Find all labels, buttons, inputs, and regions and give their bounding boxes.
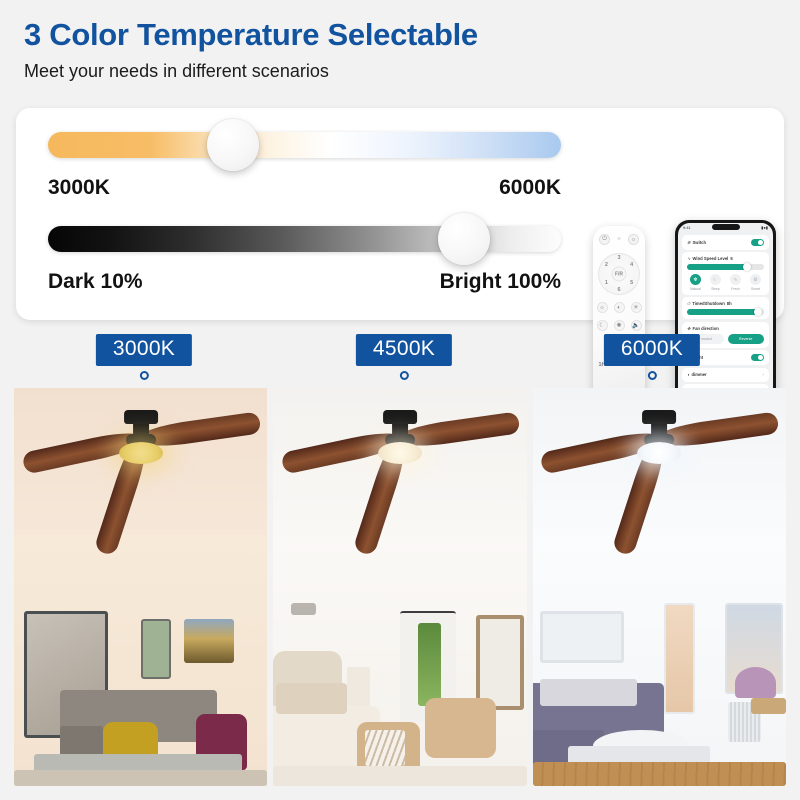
fan-mount — [383, 410, 417, 424]
mode-sleep-label: Sleep — [707, 287, 724, 291]
brightness-max-label: Bright 100% — [440, 270, 561, 294]
leaf-icon: ✻ — [690, 274, 701, 285]
mode-smart[interactable]: ⚙ Smart — [747, 274, 764, 291]
ceiling-fan — [273, 404, 526, 524]
floor — [14, 770, 267, 786]
mode-fresh-label: Fresh — [727, 287, 744, 291]
wind-speed-label-group: ∿ Wind Speed Level 5 — [687, 256, 733, 261]
power-icon[interactable]: ⏻ — [599, 234, 610, 245]
cct-slider-track[interactable] — [48, 132, 561, 158]
switch-toggle[interactable] — [751, 239, 764, 246]
brightness-slider-labels: Dark 10% Bright 100% — [48, 270, 561, 294]
fan-icon: ✻ — [687, 240, 691, 245]
fan-direction-label: Fan direction — [693, 326, 719, 331]
remote-function-row-2: ☾ ✺ 🔈 — [593, 320, 645, 331]
badge-3000k: 3000K — [96, 334, 192, 366]
sliders-group: 3000K 6000K Dark 10% Bright 100% — [48, 128, 561, 316]
floor — [273, 766, 526, 786]
temperature-badges: 3000K 4500K 6000K — [0, 334, 800, 384]
fan-mount — [124, 410, 158, 424]
flower-vases — [735, 667, 776, 699]
nightstand-lamp — [347, 667, 370, 707]
page-title: 3 Color Temperature Selectable — [24, 18, 800, 52]
cct-min-label: 3000K — [48, 176, 110, 200]
gear-icon: ⚙ — [750, 274, 761, 285]
small-window — [141, 619, 171, 679]
pillows — [276, 683, 347, 715]
ceiling-fan — [14, 404, 267, 524]
side-table — [751, 698, 786, 714]
mode-smart-label: Smart — [747, 287, 764, 291]
badge-connector-dot — [139, 371, 148, 380]
cct-slider-handle[interactable] — [207, 119, 259, 171]
remote-led-indicator — [618, 237, 621, 240]
badge-group-6000k: 6000K — [604, 334, 700, 380]
wind-speed-slider[interactable] — [687, 264, 764, 270]
badge-group-3000k: 3000K — [96, 334, 192, 380]
fan-modes-group: ✻ Natural ☾ Sleep ∿ Fresh ⚙ — [687, 274, 764, 291]
fan-speed-dial[interactable]: 3 2 4 1 5 6 F/R — [598, 253, 640, 295]
switch-row-label-group: ✻ Switch — [687, 240, 706, 245]
air-vent — [291, 603, 316, 615]
wood-armchair-2 — [425, 698, 496, 758]
brightness-down-icon[interactable]: ☼ — [597, 302, 608, 313]
badge-group-4500k: 4500K — [356, 334, 452, 380]
phone-notch — [712, 224, 740, 230]
page-subtitle: Meet your needs in different scenarios — [24, 61, 800, 83]
header: 3 Color Temperature Selectable Meet your… — [0, 0, 800, 83]
moon-icon: ☾ — [710, 274, 721, 285]
fan-light-warm — [119, 442, 163, 464]
remote-function-row-1: ☼ ◐ ☀ — [593, 302, 645, 313]
wind-speed-value: 5 — [730, 256, 732, 261]
photo-living-room-cool — [533, 388, 786, 786]
striped-throw — [365, 730, 406, 766]
wind-icon: ∿ — [687, 256, 691, 261]
fan-light-neutral — [378, 442, 422, 464]
cct-max-label: 6000K — [499, 176, 561, 200]
window-greenery — [418, 623, 441, 707]
wind-icon: ∿ — [730, 274, 741, 285]
dial-center-fr-button[interactable]: F/R — [612, 267, 627, 282]
doorway — [664, 603, 694, 714]
timer-value: 8h — [727, 301, 732, 306]
status-icons: ▮●▮ — [761, 225, 768, 230]
badge-connector-dot — [399, 371, 408, 380]
mode-sleep[interactable]: ☾ Sleep — [707, 274, 724, 291]
timer-label-group: ⏱ TimedShutdown 8h — [687, 301, 732, 306]
badge-4500k: 4500K — [356, 334, 452, 366]
wall-art — [184, 619, 235, 663]
color-temp-icon[interactable]: ◐ — [614, 302, 625, 313]
moon-icon[interactable]: ☾ — [597, 320, 608, 331]
badge-connector-dot — [647, 371, 656, 380]
mode-natural-label: Natural — [687, 287, 704, 291]
bulb-icon[interactable]: ☼ — [628, 234, 639, 245]
status-time: 9:41 — [683, 225, 691, 230]
color-temperature-slider[interactable] — [48, 128, 561, 162]
fan-downrod — [651, 422, 667, 440]
clock-icon: ⏱ — [687, 301, 690, 306]
fan-direction-label-group: ✥ Fan direction — [687, 326, 719, 331]
brightness-min-label: Dark 10% — [48, 270, 143, 294]
timer-label: TimedShutdown — [692, 301, 725, 306]
breeze-icon[interactable]: ✺ — [614, 320, 625, 331]
fan-downrod — [133, 422, 149, 440]
framed-mirror — [476, 615, 524, 711]
dial-speed-4[interactable]: 4 — [630, 262, 633, 268]
badge-6000k: 6000K — [604, 334, 700, 366]
dial-speed-6[interactable]: 6 — [617, 287, 620, 293]
brightness-slider-handle[interactable] — [438, 213, 490, 265]
mode-fresh[interactable]: ∿ Fresh — [727, 274, 744, 291]
app-row-wind-speed[interactable]: ∿ Wind Speed Level 5 ✻ Natural — [682, 252, 769, 295]
ceiling-fan — [533, 404, 786, 524]
brightness-slider[interactable] — [48, 222, 561, 256]
cct-slider-labels: 3000K 6000K — [48, 176, 561, 200]
fan-light-cool — [637, 442, 681, 464]
fan-mount — [642, 410, 676, 424]
dial-speed-2[interactable]: 2 — [605, 262, 608, 268]
dial-speed-3[interactable]: 3 — [617, 255, 620, 261]
control-panel-card: 3000K 6000K Dark 10% Bright 100% ⏻ ☼ 3 — [16, 108, 784, 320]
fan-downrod — [392, 422, 408, 440]
dial-speed-5[interactable]: 5 — [630, 280, 633, 286]
sofa-cushions — [540, 679, 636, 707]
wood-floor — [533, 762, 786, 786]
wind-speed-label: Wind Speed Level — [693, 256, 729, 261]
dial-speed-1[interactable]: 1 — [605, 280, 608, 286]
room-photos — [14, 388, 786, 786]
brightness-up-icon[interactable]: ☀ — [631, 302, 642, 313]
photo-living-room-warm — [14, 388, 267, 786]
app-row-timed-shutdown[interactable]: ⏱ TimedShutdown 8h — [682, 297, 769, 319]
infographic-page: 3 Color Temperature Selectable Meet your… — [0, 0, 800, 800]
mute-icon[interactable]: 🔈 — [631, 320, 642, 331]
direction-icon: ✥ — [687, 326, 691, 331]
timer-slider[interactable] — [687, 309, 764, 315]
photo-bedroom-neutral — [273, 388, 526, 786]
app-row-switch[interactable]: ✻ Switch — [682, 235, 769, 250]
wall-mirror — [540, 611, 624, 663]
switch-label: Switch — [693, 240, 707, 245]
mode-natural[interactable]: ✻ Natural — [687, 274, 704, 291]
